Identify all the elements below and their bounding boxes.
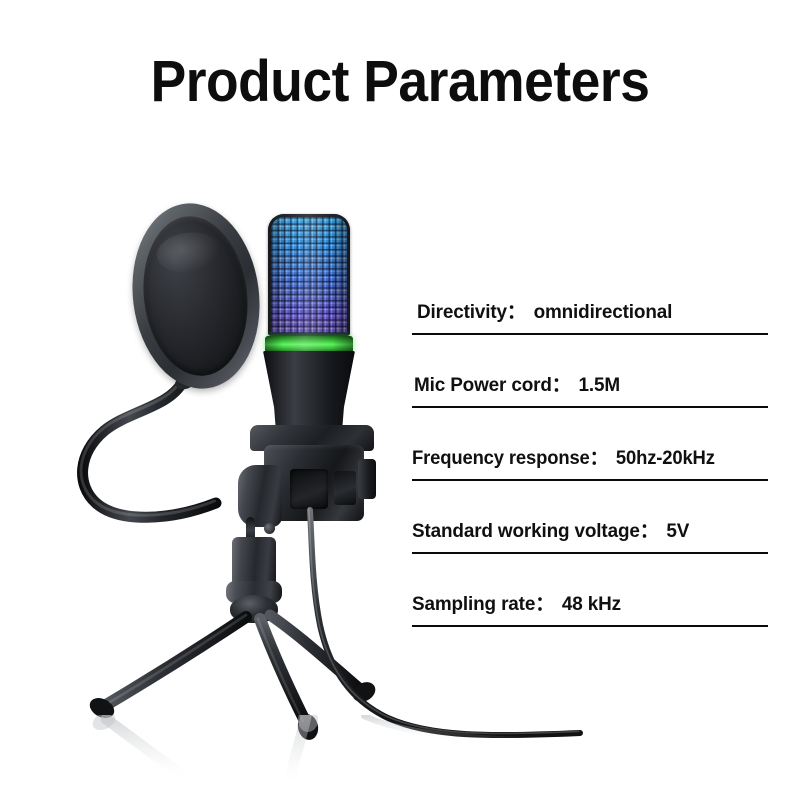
- usb-cable: [20, 185, 420, 785]
- spec-label-sampling-rate: Sampling rate: [412, 593, 535, 615]
- spec-separator: ：: [507, 301, 527, 323]
- page-title: Product Parameters: [32, 52, 768, 113]
- product-image: [20, 185, 420, 785]
- spec-value-mic-power-cord: 1.5M: [572, 374, 620, 396]
- spec-value-frequency-response: 50hz-20kHz: [609, 448, 715, 469]
- spec-label-frequency-response: Frequency response: [412, 448, 590, 469]
- spec-text-frequency-response: Frequency response：50hz-20kHz: [412, 443, 715, 470]
- spec-separator: ：: [640, 520, 660, 542]
- spec-text-sampling-rate: Sampling rate：48 kHz: [412, 587, 621, 616]
- spec-row-mic-power-cord: Mic Power cord：1.5M: [412, 335, 768, 408]
- spec-row-sampling-rate: Sampling rate：48 kHz: [412, 554, 768, 627]
- spec-separator: ：: [535, 593, 555, 615]
- spec-list: Directivity：omnidirectional Mic Power co…: [412, 262, 768, 627]
- spec-text-directivity: Directivity：omnidirectional: [417, 295, 672, 324]
- spec-label-standard-working-voltage: Standard working voltage: [412, 520, 640, 542]
- spec-text-mic-power-cord: Mic Power cord：1.5M: [414, 368, 620, 397]
- spec-separator: ：: [552, 374, 572, 396]
- spec-value-sampling-rate: 48 kHz: [555, 593, 621, 615]
- spec-row-directivity: Directivity：omnidirectional: [412, 262, 768, 335]
- spec-row-standard-working-voltage: Standard working voltage：5V: [412, 481, 768, 554]
- spec-label-directivity: Directivity: [417, 301, 507, 323]
- spec-row-frequency-response: Frequency response：50hz-20kHz: [412, 408, 768, 481]
- product-parameters-page: Product Parameters: [0, 0, 800, 800]
- spec-value-directivity: omnidirectional: [527, 301, 672, 323]
- spec-value-standard-working-voltage: 5V: [660, 520, 690, 542]
- spec-rule: [412, 625, 768, 627]
- spec-text-standard-working-voltage: Standard working voltage：5V: [412, 514, 689, 543]
- spec-separator: ：: [590, 448, 609, 469]
- spec-label-mic-power-cord: Mic Power cord: [414, 374, 552, 396]
